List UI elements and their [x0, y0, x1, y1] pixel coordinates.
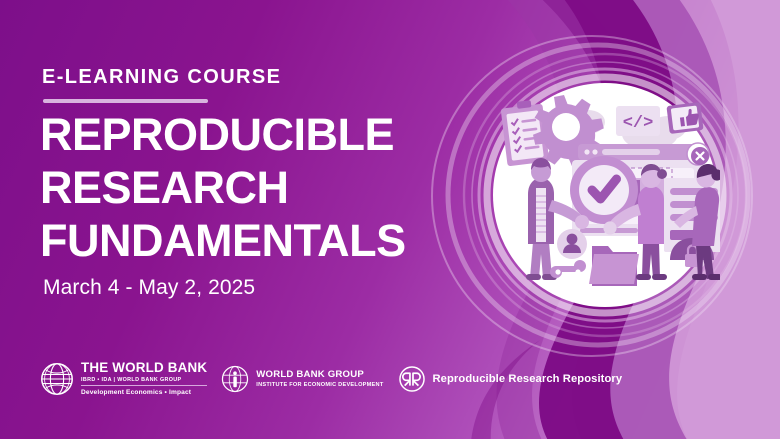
- world-bank-subname: IBRD • IDA | WORLD BANK GROUP: [81, 376, 207, 384]
- eyebrow-divider: [43, 99, 208, 103]
- code-tag-icon: </>: [616, 106, 660, 136]
- title-line-2: RESEARCH: [40, 161, 470, 214]
- wbg-subname: INSTITUTE FOR ECONOMIC DEVELOPMENT: [256, 381, 383, 389]
- logo-reproducible-research-repository: Reproducible Research Repository: [398, 365, 623, 393]
- illustration-team-reproducible-research: </>: [492, 82, 720, 308]
- wbg-name: WORLD BANK GROUP: [256, 369, 383, 380]
- globe-icon: [40, 362, 74, 396]
- logo-world-bank-group-ied: WORLD BANK GROUP INSTITUTE FOR ECONOMIC …: [221, 365, 383, 393]
- world-bank-name: THE WORLD BANK: [81, 361, 207, 375]
- world-bank-divider: [81, 385, 207, 386]
- world-bank-tagline: Development Economics • Impact: [81, 388, 207, 397]
- svg-text:</>: </>: [623, 114, 654, 133]
- close-circle-icon: [687, 143, 709, 165]
- wrench-icon: [550, 260, 586, 278]
- user-avatar-icon: [557, 229, 587, 259]
- rr-monogram-icon: [398, 365, 426, 393]
- logo-world-bank: THE WORLD BANK IBRD • IDA | WORLD BANK G…: [40, 361, 207, 398]
- folder-icon: [589, 246, 639, 286]
- course-banner: </>: [0, 0, 780, 439]
- globe-i-icon: [221, 365, 249, 393]
- thumbs-up-icon: [666, 102, 703, 134]
- title-line-1: REPRODUCIBLE: [40, 108, 470, 161]
- course-dates: March 4 - May 2, 2025: [43, 276, 255, 300]
- title-line-3: FUNDAMENTALS: [40, 214, 470, 267]
- page-title: REPRODUCIBLE RESEARCH FUNDAMENTALS: [40, 108, 470, 267]
- eyebrow-label: E-LEARNING COURSE: [42, 66, 281, 89]
- rr-name: Reproducible Research Repository: [433, 373, 623, 385]
- logo-bar: THE WORLD BANK IBRD • IDA | WORLD BANK G…: [40, 355, 622, 403]
